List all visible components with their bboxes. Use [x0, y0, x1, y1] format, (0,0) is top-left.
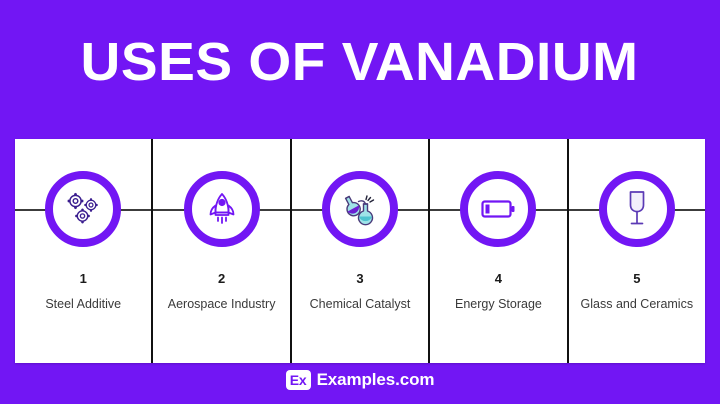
icon-circle — [45, 171, 121, 247]
title-area: USES OF VANADIUM — [0, 26, 720, 98]
brand-name: Examples.com — [317, 370, 435, 390]
examples-logo-badge: Ex — [286, 370, 311, 390]
item-panel-steel-additive[interactable]: 1 Steel Additive — [15, 139, 151, 363]
icon-circle — [322, 171, 398, 247]
icon-circle — [599, 171, 675, 247]
item-label: Energy Storage — [455, 296, 542, 314]
item-panel-chemical-catalyst[interactable]: 3 Chemical Catalyst — [290, 139, 428, 363]
item-panel-energy-storage[interactable]: 4 Energy Storage — [428, 139, 566, 363]
page-title: USES OF VANADIUM — [81, 35, 639, 89]
items-card: 1 Steel Additive — [15, 139, 705, 363]
rocket-icon — [202, 189, 242, 229]
item-label: Chemical Catalyst — [310, 296, 411, 314]
item-number: 1 — [80, 272, 87, 285]
item-label: Aerospace Industry — [168, 296, 276, 314]
battery-icon — [477, 188, 519, 230]
item-label: Glass and Ceramics — [581, 296, 694, 314]
item-panel-aerospace-industry[interactable]: 2 Aerospace Industry — [151, 139, 289, 363]
flasks-icon — [339, 188, 381, 230]
brand-footer[interactable]: Ex Examples.com — [0, 370, 720, 390]
item-number: 5 — [633, 272, 640, 285]
gears-icon — [62, 188, 104, 230]
icon-circle — [460, 171, 536, 247]
item-label: Steel Additive — [45, 296, 121, 314]
infographic-poster: USES OF VANADIUM — [0, 0, 720, 404]
item-number: 4 — [495, 272, 502, 285]
icon-circle — [184, 171, 260, 247]
item-number: 2 — [218, 272, 225, 285]
item-panel-glass-and-ceramics[interactable]: 5 Glass and Ceramics — [567, 139, 705, 363]
item-number: 3 — [356, 272, 363, 285]
wine-glass-icon — [617, 188, 657, 230]
